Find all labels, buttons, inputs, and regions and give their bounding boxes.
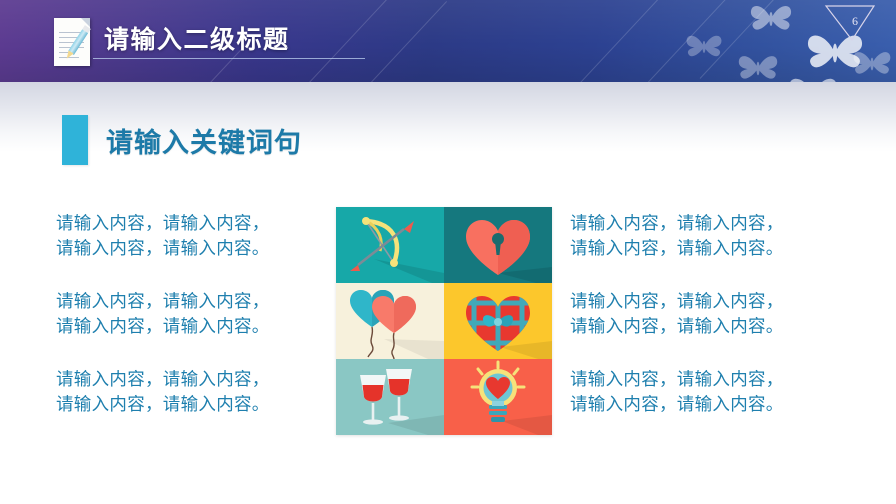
wine-glasses-icon [336, 359, 444, 435]
heart-balloons-icon [336, 283, 444, 359]
keyword-heading-block: 请输入关键词句 [62, 115, 302, 165]
grid-tile-heart-lightbulb [444, 359, 552, 435]
page-number-badge: 6 [822, 4, 878, 44]
keyword-heading-text: 请输入关键词句 [106, 121, 302, 160]
grid-tile-bow-and-arrow [336, 207, 444, 283]
page-number: 6 [852, 14, 858, 29]
header-title: 请输入二级标题 [104, 20, 290, 56]
left-text-column: 请输入内容，请输入内容， 请输入内容，请输入内容。 请输入内容，请输入内容， 请… [56, 212, 346, 418]
right-paragraph-2: 请输入内容，请输入内容， 请输入内容，请输入内容。 [570, 290, 860, 340]
heading-accent-bar [62, 115, 88, 165]
left-paragraph-3: 请输入内容，请输入内容， 请输入内容，请输入内容。 [56, 368, 346, 418]
slide-canvas: 请输入二级标题 [0, 0, 896, 504]
slide-header: 请输入二级标题 [0, 0, 896, 82]
header-title-underline [93, 58, 365, 59]
left-paragraph-2: 请输入内容，请输入内容， 请输入内容，请输入内容。 [56, 290, 346, 340]
left-paragraph-1: 请输入内容，请输入内容， 请输入内容，请输入内容。 [56, 212, 346, 262]
grid-tile-heart-balloons [336, 283, 444, 359]
right-paragraph-1: 请输入内容，请输入内容， 请输入内容，请输入内容。 [570, 212, 860, 262]
right-paragraph-3: 请输入内容，请输入内容， 请输入内容，请输入内容。 [570, 368, 860, 418]
grid-tile-wine-glasses [336, 359, 444, 435]
grid-tile-heart-lock [444, 207, 552, 283]
right-text-column: 请输入内容，请输入内容， 请输入内容，请输入内容。 请输入内容，请输入内容， 请… [570, 212, 860, 418]
document-pencil-icon [52, 18, 96, 68]
heart-lightbulb-icon [444, 359, 552, 435]
grid-tile-heart-gift [444, 283, 552, 359]
bow-and-arrow-icon [336, 207, 444, 283]
heart-lock-icon [444, 207, 552, 283]
image-grid [336, 207, 552, 435]
heart-gift-icon [444, 283, 552, 359]
